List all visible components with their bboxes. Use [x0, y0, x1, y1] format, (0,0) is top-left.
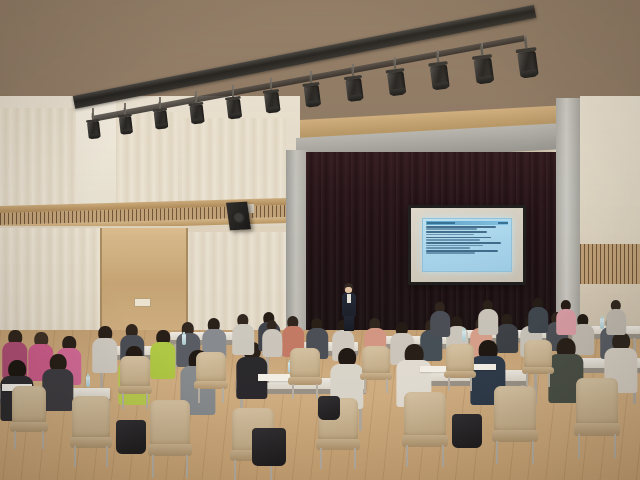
- stacking-chair: [362, 346, 390, 392]
- person-torso: [232, 324, 254, 355]
- slide-text-line: [426, 226, 496, 228]
- slide-text-line: [426, 239, 480, 241]
- backpack: [116, 420, 146, 454]
- right-slat-band: [580, 244, 640, 284]
- auditorium-photo: [0, 0, 640, 480]
- water-bottle: [182, 334, 186, 345]
- stage-light-icon: [153, 106, 168, 129]
- slide-text-line: [426, 247, 470, 249]
- slide-text-line: [426, 242, 501, 244]
- person-torso: [42, 369, 73, 411]
- audience-member: [556, 300, 576, 334]
- projection-screen: [408, 205, 526, 285]
- slide-text-line: [426, 228, 477, 230]
- audience-member: [478, 300, 498, 334]
- stage-light-icon: [516, 45, 538, 79]
- slide-text-line: [426, 237, 491, 239]
- person-torso: [92, 338, 117, 373]
- person-torso: [150, 342, 175, 379]
- stage-light-icon: [263, 87, 280, 114]
- backpack: [318, 396, 340, 420]
- slide-text-group: [426, 242, 508, 248]
- slide-text-line: [426, 245, 483, 247]
- stage-light-icon: [429, 59, 450, 91]
- projected-slide: [422, 218, 512, 273]
- person-torso: [556, 309, 576, 334]
- lower-curtain-left: [0, 228, 100, 340]
- stacking-chair: [150, 400, 190, 476]
- stacking-chair: [494, 386, 536, 462]
- stacking-chair: [72, 396, 110, 466]
- stacking-chair: [196, 352, 226, 402]
- wall-curtain-panel-right: [182, 118, 286, 206]
- slide-text-line: [426, 252, 475, 254]
- audience-member: [232, 314, 254, 354]
- right-wall-panel: [580, 96, 640, 246]
- door-sign: [134, 298, 151, 307]
- audience-member: [262, 320, 282, 356]
- person-torso: [478, 309, 498, 334]
- slide-text-line: [426, 231, 486, 233]
- slide-text-line: [426, 234, 473, 236]
- person-torso: [528, 307, 548, 332]
- hall-door[interactable]: [100, 228, 188, 340]
- stacking-chair: [120, 356, 150, 408]
- backpack: [452, 414, 482, 448]
- stacking-chair: [404, 392, 446, 466]
- audience-member: [150, 330, 176, 378]
- slide-text-group: [426, 226, 508, 230]
- presenter-figure: [341, 283, 357, 331]
- stage-light-icon: [87, 117, 101, 139]
- audience-member: [92, 326, 118, 372]
- stage-light-icon: [345, 73, 364, 102]
- audience-member: [528, 298, 548, 332]
- water-bottle: [600, 318, 604, 329]
- slide-text-group: [426, 250, 508, 254]
- stacking-chair: [290, 348, 320, 398]
- person-torso: [262, 329, 282, 356]
- stage-light-icon: [189, 100, 205, 124]
- stacking-chair: [576, 378, 618, 456]
- screen-surface: [411, 208, 523, 282]
- pa-speaker-icon: [226, 202, 251, 231]
- handout-paper: [258, 374, 292, 381]
- stacking-chair: [12, 386, 46, 448]
- backpack: [252, 428, 286, 466]
- stage-light-icon: [386, 66, 406, 96]
- slide-text-group: [426, 237, 508, 241]
- slide-title-bar: [426, 221, 508, 225]
- audience-member: [42, 354, 74, 410]
- slide-text-group: [426, 231, 508, 235]
- water-bottle: [462, 330, 466, 341]
- stage-light-icon: [473, 52, 495, 85]
- stage-light-icon: [303, 80, 321, 108]
- stacking-chair: [446, 344, 474, 390]
- audience-member: [430, 302, 450, 336]
- person-torso: [606, 309, 626, 334]
- stage-light-icon: [118, 112, 133, 135]
- slide-text-line: [426, 250, 498, 252]
- person-torso: [430, 311, 450, 336]
- stage-light-icon: [226, 94, 243, 119]
- audience-member: [606, 300, 626, 334]
- water-bottle: [86, 376, 90, 387]
- stacking-chair: [524, 340, 552, 386]
